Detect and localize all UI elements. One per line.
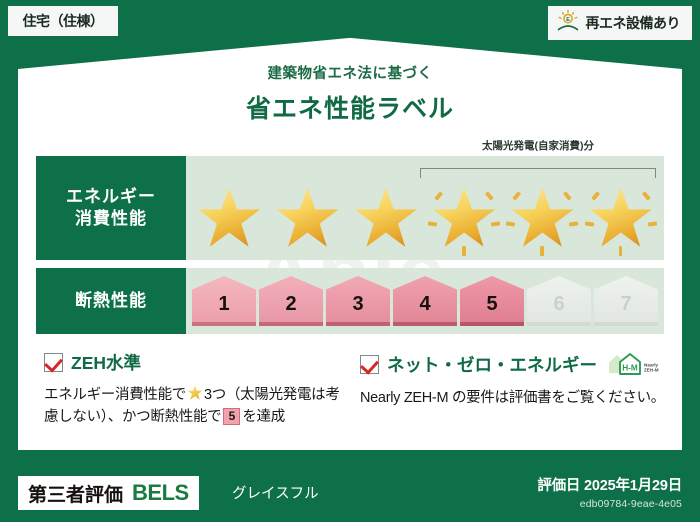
star-item-solar: [506, 184, 578, 254]
svg-text:ZEH-M: ZEH-M: [644, 368, 659, 373]
energy-label-line1: エネルギー: [66, 186, 156, 208]
criteria-zeh-header: ZEH水準: [44, 350, 344, 375]
insulation-level-value: 6: [553, 293, 564, 316]
evaluation-uid: edb09784-9eae-4e05: [537, 498, 682, 510]
insulation-level-value: 1: [218, 293, 229, 316]
heading-subtitle: 建築物省エネ法に基づく: [18, 62, 682, 83]
insulation-level-scale: 1 2 3 4 5 6 7: [192, 272, 658, 330]
insulation-level: 2: [259, 276, 323, 326]
dwelling-type-chip: 住宅（住棟）: [8, 6, 118, 36]
insulation-level-value: 7: [620, 293, 631, 316]
star-icon-inline: [187, 385, 203, 401]
insulation-level: 3: [326, 276, 390, 326]
insulation-level-value: 3: [352, 293, 363, 316]
energy-performance-body: 太陽光発電(自家消費)分: [186, 156, 664, 260]
zeh-m-logo: H-M Nearly ZEH-M: [605, 350, 667, 378]
project-name: グレイスフル: [232, 482, 319, 503]
renewable-badge-label: 再エネ設備あり: [586, 13, 681, 33]
sparkle-icon: [642, 191, 650, 200]
insulation-performance-body: 1 2 3 4 5 6 7: [186, 268, 664, 334]
svg-text:H-M: H-M: [622, 363, 638, 372]
svg-text:E: E: [566, 17, 570, 23]
sparkle-icon: [591, 191, 599, 200]
page-title: 省エネ性能ラベル: [18, 89, 682, 125]
energy-performance-row: エネルギー 消費性能 太陽光発電(自家消費)分: [36, 156, 664, 260]
third-party-label: 第三者評価: [28, 480, 123, 507]
energy-label-line2: 消費性能: [75, 208, 147, 230]
sparkle-icon: [434, 191, 442, 200]
criteria-net-zero-title: ネット・ゼロ・エネルギー: [387, 352, 597, 377]
star-icon: [274, 186, 340, 252]
sparkle-icon: [462, 246, 466, 256]
insulation-level: 5: [460, 276, 524, 326]
star-icon: [353, 186, 419, 252]
star-item-solar: [585, 184, 657, 254]
solar-annotation-bracket: [420, 168, 656, 178]
renewable-energy-badge: E 再エネ設備あり: [548, 6, 693, 40]
sparkle-icon: [648, 221, 657, 226]
insulation-level: 1: [192, 276, 256, 326]
criteria-zeh-description: エネルギー消費性能で3つ（太陽光発電は考慮しない）、かつ断熱性能で5を達成: [44, 384, 344, 429]
insulation-performance-row: 断熱性能 1 2 3 4 5 6 7: [36, 268, 664, 334]
sparkle-icon: [485, 191, 493, 200]
insulation-level-value: 5: [486, 293, 497, 316]
criteria-zeh-text-part1: エネルギー消費性能で: [44, 387, 186, 403]
insulation-level: 4: [393, 276, 457, 326]
criteria-zeh-block: ZEH水準 エネルギー消費性能で3つ（太陽光発電は考慮しない）、かつ断熱性能で5…: [44, 350, 344, 429]
criteria-zeh-title: ZEH水準: [71, 350, 141, 375]
insulation-level-value: 4: [419, 293, 430, 316]
bels-energy-label: 住宅（住棟） E 再エネ設備あり Able 建築物省エネ法に基づく: [0, 0, 700, 522]
star-icon: [196, 186, 262, 252]
insulation-level-value: 2: [285, 293, 296, 316]
solar-sun-icon: E: [556, 9, 580, 38]
star-item: [350, 184, 422, 254]
sparkle-icon: [506, 221, 515, 226]
dwelling-type-label: 住宅（住棟）: [23, 11, 104, 31]
footer-meta: 評価日 2025年1月29日 edb09784-9eae-4e05: [537, 474, 682, 510]
energy-performance-label: エネルギー 消費性能: [36, 156, 186, 260]
insulation-level: 6: [527, 276, 591, 326]
bels-footer-badge: 第三者評価 BELS: [18, 476, 199, 510]
insulation-level: 7: [594, 276, 658, 326]
criteria-net-zero-description: Nearly ZEH-M の要件は評価書をご覧ください。: [360, 387, 672, 409]
sparkle-icon: [513, 191, 521, 200]
star-rating: [190, 182, 660, 256]
page-title-block: 建築物省エネ法に基づく 省エネ性能ラベル: [18, 62, 682, 125]
insulation-performance-label: 断熱性能: [36, 268, 186, 334]
insulation-label-text: 断熱性能: [75, 290, 147, 312]
sparkle-icon: [569, 221, 578, 226]
criteria-net-zero-block: ネット・ゼロ・エネルギー H-M Nearly ZEH-M Nearly ZEH…: [360, 350, 672, 409]
insulation-badge-inline: 5: [223, 408, 240, 425]
criteria-zeh-text-part3: を達成: [242, 409, 285, 425]
solar-annotation-text: 太陽光発電(自家消費)分: [420, 138, 656, 153]
star-item-solar: [428, 184, 500, 254]
main-panel: Able 建築物省エネ法に基づく 省エネ性能ラベル エネルギー 消費性能 太陽光…: [18, 18, 682, 450]
sparkle-icon: [585, 221, 594, 226]
criteria-net-zero-header: ネット・ゼロ・エネルギー H-M Nearly ZEH-M: [360, 350, 672, 378]
check-icon-zeh: [44, 353, 63, 372]
star-item: [271, 184, 343, 254]
evaluation-date: 評価日 2025年1月29日: [537, 474, 682, 495]
sparkle-icon: [491, 221, 500, 226]
sparkle-icon: [619, 246, 623, 256]
sparkle-icon: [540, 246, 544, 256]
sparkle-icon: [428, 221, 437, 226]
bels-logo-text: BELS: [132, 480, 189, 506]
sparkle-icon: [564, 191, 572, 200]
check-icon-net-zero: [360, 355, 379, 374]
star-item: [193, 184, 265, 254]
